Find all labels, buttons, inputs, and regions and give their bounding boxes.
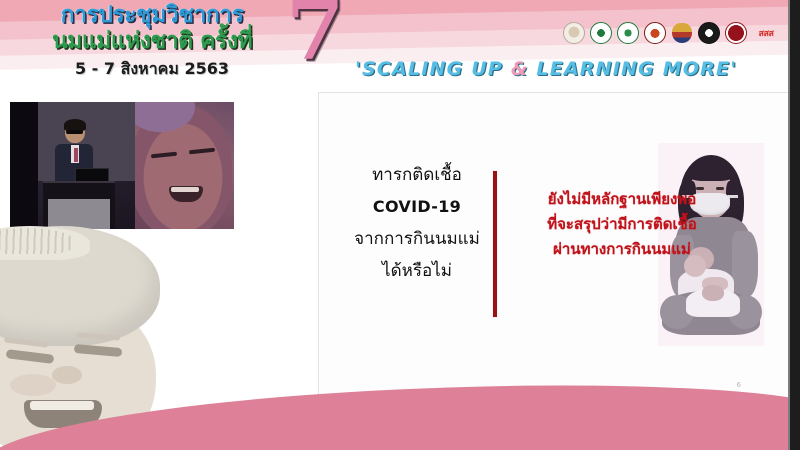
- nursing-council-logo: [725, 22, 747, 44]
- slide-screenshot: การประชุมวิชาการ นมแม่แห่งชาติ ครั้งที่ …: [0, 0, 800, 450]
- ministry-of-public-health-logo: [590, 22, 612, 44]
- slide-answer-text: ยังไม่มีหลักฐานเพียงพอ ที่จะสรุปว่ามีการ…: [507, 187, 737, 262]
- department-of-health-logo: [617, 22, 639, 44]
- conference-date: 5 - 7 สิงหาคม 2563: [12, 58, 292, 80]
- answer-line-3: ผ่านทางการกินนมแม่: [507, 237, 737, 262]
- tagline-ampersand: &: [511, 58, 529, 80]
- slide-question-text: ทารกติดเชื้อ COVID-19 จากการกินนมแม่ ได้…: [335, 159, 499, 287]
- question-line-4: ได้หรือไม่: [335, 255, 499, 287]
- answer-line-2: ที่จะสรุปว่ามีการติดเชื้อ: [507, 212, 737, 237]
- thaihealth-sss-label: สสส: [752, 22, 780, 44]
- baby-closeup-view: [135, 102, 234, 229]
- slide-vertical-divider: [493, 171, 497, 317]
- thai-breastfeeding-center-logo: [644, 22, 666, 44]
- slide-number: 6: [737, 381, 741, 389]
- tagline-part-2: LEARNING MORE': [529, 58, 738, 80]
- conference-edition-number: 7: [286, 0, 342, 72]
- tagline-part-1: 'SCALING UP: [355, 58, 511, 80]
- sponsor-logo-row: สสส: [563, 22, 780, 44]
- question-line-1: ทารกติดเชื้อ: [335, 159, 499, 191]
- answer-line-1: ยังไม่มีหลักฐานเพียงพอ: [507, 187, 737, 212]
- question-line-3: จากการกินนมแม่: [335, 223, 499, 255]
- conference-title-line2: นมแม่แห่งชาติ ครั้งที่: [12, 28, 292, 55]
- conference-banner: การประชุมวิชาการ นมแม่แห่งชาติ ครั้งที่ …: [0, 0, 800, 96]
- speaker-podium-view: [10, 102, 135, 229]
- right-edge-bar: [790, 0, 800, 450]
- conference-title-line1: การประชุมวิชาการ: [12, 2, 292, 28]
- conference-tagline: 'SCALING UP & LEARNING MORE': [355, 58, 737, 80]
- conference-title-block: การประชุมวิชาการ นมแม่แห่งชาติ ครั้งที่ …: [12, 2, 292, 80]
- presentation-slide: ทารกติดเชื้อ COVID-19 จากการกินนมแม่ ได้…: [318, 92, 790, 404]
- question-line-2: COVID-19: [335, 191, 499, 223]
- royal-college-logo: [671, 22, 693, 44]
- thaihealth-sss-logo: สสส: [752, 22, 780, 44]
- speaker-video-feed[interactable]: [10, 102, 234, 229]
- university-seal-logo: [698, 22, 720, 44]
- royal-emblem-logo: [563, 22, 585, 44]
